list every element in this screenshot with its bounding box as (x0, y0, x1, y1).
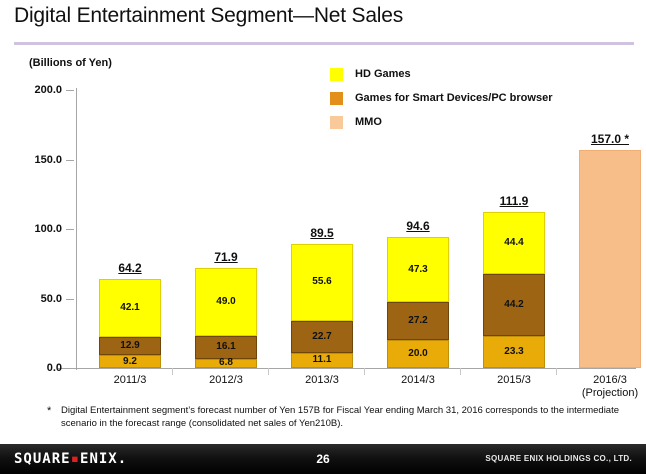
bar-segment-value: 23.3 (504, 347, 523, 357)
y-axis-unit-label: (Billions of Yen) (29, 57, 112, 69)
y-axis-tick-label: 150.0 (34, 154, 62, 166)
bar-segment-value: 27.2 (408, 316, 427, 326)
x-axis-tick (172, 368, 173, 375)
bar-total-label: 111.9 (483, 194, 545, 208)
bar-segment-value: 11.1 (313, 355, 332, 365)
bar-total-label: 89.5 (291, 226, 353, 240)
bar-segment-hd[interactable]: 55.6 (291, 244, 353, 321)
title-divider (14, 42, 634, 45)
bar-segment-mmo[interactable]: 9.2 (99, 355, 161, 368)
bar-segment-value: 44.2 (504, 300, 523, 310)
x-axis-tick (460, 368, 461, 375)
y-axis-tick-label: 0.0 (47, 362, 62, 374)
bar-segment-value: 9.2 (123, 357, 137, 367)
bar-segment-smart[interactable]: 22.7 (291, 321, 353, 353)
bar-segment-projection[interactable] (579, 150, 641, 368)
bar-segment-value: 55.6 (312, 277, 331, 287)
footnote-text: Digital Entertainment segment’s forecast… (61, 404, 627, 430)
bar-segment-mmo[interactable]: 20.0 (387, 340, 449, 368)
x-axis-tick (268, 368, 269, 375)
bar-stack[interactable]: 42.112.99.2 (99, 279, 161, 368)
legend-item: HD Games (330, 62, 552, 86)
x-axis-category-sublabel: (Projection) (562, 387, 646, 400)
bar-segment-value: 42.1 (120, 303, 139, 313)
bar-total-label: 157.0 * (579, 132, 641, 146)
bar-segment-mmo[interactable]: 11.1 (291, 353, 353, 368)
x-axis-category-main: 2014/3 (401, 374, 435, 386)
bar-segment-hd[interactable]: 49.0 (195, 268, 257, 336)
bar-segment-value: 16.1 (216, 342, 235, 352)
company-name: SQUARE ENIX HOLDINGS CO., LTD. (485, 454, 632, 463)
legend-item-label: HD Games (355, 68, 411, 80)
legend-swatch-icon (330, 68, 343, 81)
bar-segment-smart[interactable]: 12.9 (99, 337, 161, 355)
bar-stack[interactable]: 44.444.223.3 (483, 212, 545, 368)
chart-plot-area: 0.050.0100.0150.0200.042.112.99.264.249.… (76, 90, 628, 368)
x-axis-category-label: 2014/3 (370, 374, 466, 387)
bar-segment-smart[interactable]: 16.1 (195, 336, 257, 358)
bar-segment-value: 49.0 (216, 297, 235, 307)
footnote-marker: * (47, 405, 51, 417)
bar-segment-value: 12.9 (120, 341, 139, 351)
bar-stack[interactable] (579, 150, 641, 368)
bar-segment-value: 22.7 (312, 332, 331, 342)
y-axis-tick-label: 50.0 (41, 293, 62, 305)
bar-segment-smart[interactable]: 44.2 (483, 274, 545, 335)
bar-stack[interactable]: 55.622.711.1 (291, 244, 353, 368)
y-axis-tick (66, 90, 74, 91)
bar-total-label: 94.6 (387, 219, 449, 233)
bar-segment-smart[interactable]: 27.2 (387, 302, 449, 340)
bar-stack[interactable]: 47.327.220.0 (387, 237, 449, 368)
page-title: Digital Entertainment Segment—Net Sales (14, 4, 403, 28)
bar-segment-hd[interactable]: 42.1 (99, 279, 161, 338)
x-axis-category-label: 2013/3 (274, 374, 370, 387)
x-axis-category-label: 2012/3 (178, 374, 274, 387)
x-axis-category-label: 2016/3(Projection) (562, 374, 646, 400)
bar-segment-mmo[interactable]: 6.8 (195, 359, 257, 368)
x-axis-category-label: 2015/3 (466, 374, 562, 387)
bar-segment-value: 6.8 (219, 358, 233, 368)
bar-segment-value: 44.4 (504, 238, 523, 248)
x-axis-category-main: 2016/3 (593, 374, 627, 386)
x-axis-category-main: 2013/3 (305, 374, 339, 386)
bar-total-label: 64.2 (99, 261, 161, 275)
bar-segment-hd[interactable]: 44.4 (483, 212, 545, 274)
y-axis-tick-label: 100.0 (34, 223, 62, 235)
x-axis-tick (556, 368, 557, 375)
bar-segment-hd[interactable]: 47.3 (387, 237, 449, 303)
bar-segment-value: 47.3 (408, 265, 427, 275)
bar-segment-mmo[interactable]: 23.3 (483, 336, 545, 368)
bar-segment-value: 20.0 (408, 349, 427, 359)
x-axis-category-main: 2011/3 (114, 374, 147, 386)
slide-footer: SQUARE▪ENIX. 26 SQUARE ENIX HOLDINGS CO.… (0, 442, 646, 474)
footnote: * Digital Entertainment segment’s foreca… (47, 404, 627, 430)
y-axis-tick (66, 299, 74, 300)
x-axis-category-label: 2011/3 (82, 374, 178, 387)
y-axis-tick (66, 160, 74, 161)
x-axis-tick (364, 368, 365, 375)
y-axis-tick-label: 200.0 (34, 84, 62, 96)
x-axis-category-main: 2015/3 (497, 374, 531, 386)
y-axis-tick (66, 368, 74, 369)
x-axis-category-main: 2012/3 (209, 374, 243, 386)
bar-stack[interactable]: 49.016.16.8 (195, 268, 257, 368)
bar-total-label: 71.9 (195, 250, 257, 264)
y-axis-tick (66, 229, 74, 230)
x-axis-line (58, 368, 636, 369)
